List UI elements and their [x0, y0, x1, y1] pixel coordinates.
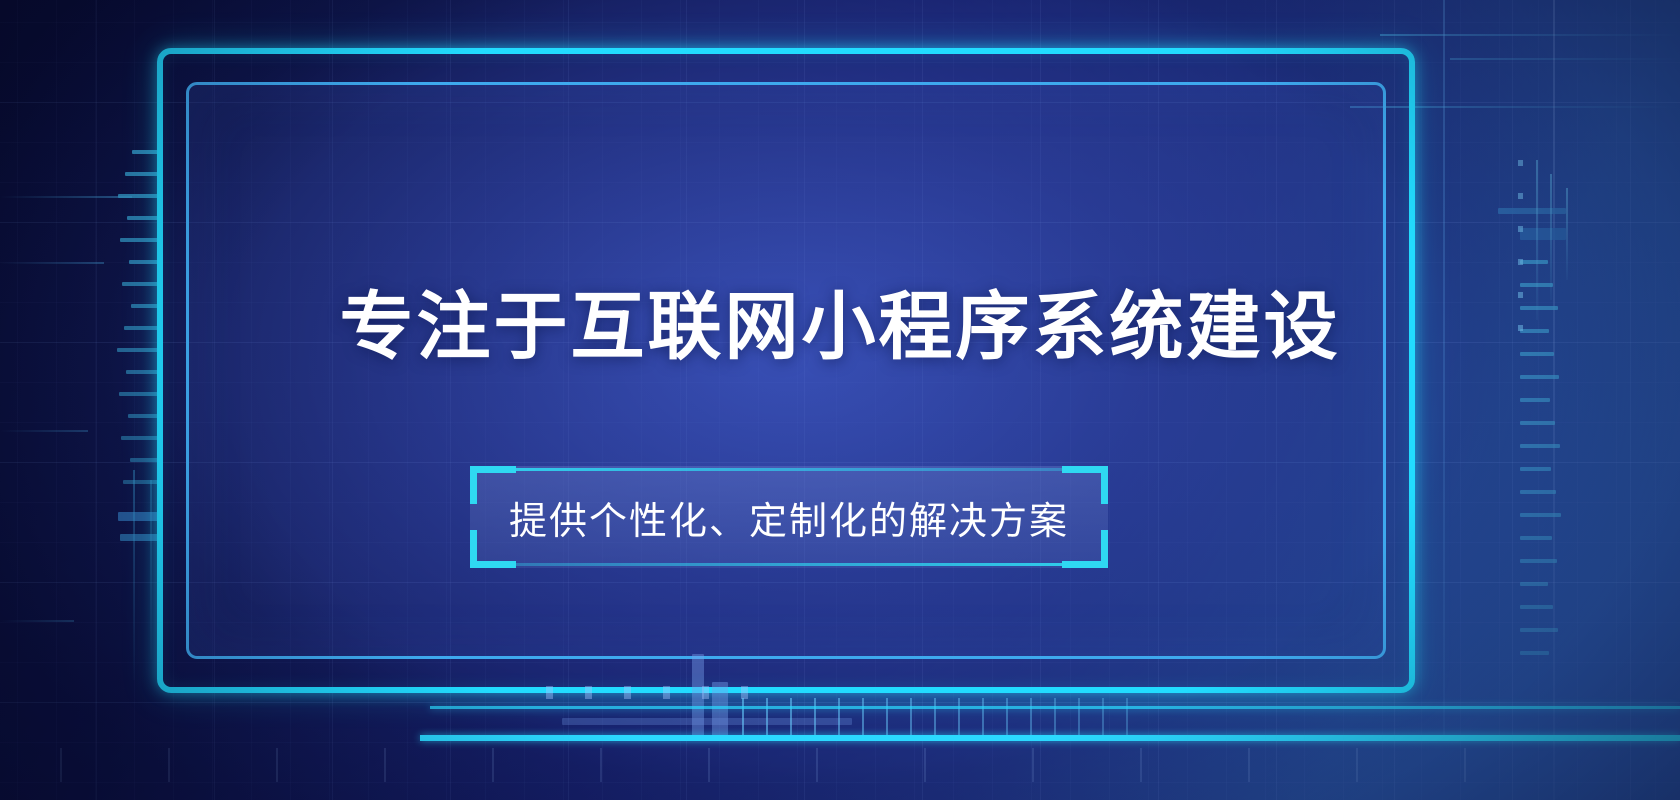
tick-mark: [1520, 605, 1553, 609]
decor-vline-right-1: [1443, 0, 1445, 740]
decor-vline-right-2: [1553, 0, 1555, 800]
tick-slab: [1520, 228, 1566, 240]
hud-mini-tick: [838, 698, 840, 736]
hud-lower-tick: [1248, 748, 1250, 782]
decor-streak-left-2: [0, 262, 104, 264]
hud-lower-tick: [600, 748, 602, 782]
hud-mini-tick: [958, 698, 960, 736]
tick-mark: [128, 414, 158, 418]
hud-lower-tick: [384, 748, 386, 782]
tick-mark: [1520, 559, 1557, 563]
inner-frame: [186, 82, 1386, 659]
tick-mark: [125, 172, 158, 176]
decor-vline-left-2: [150, 480, 152, 660]
tick-mark: [126, 370, 158, 374]
hud-mini-tick: [1126, 698, 1128, 736]
hud-mini-tick: [766, 698, 768, 736]
hud-mini-tick: [982, 698, 984, 736]
hud-mini-tick: [1030, 698, 1032, 736]
tick-mark: [119, 392, 158, 396]
tick-mark: [1520, 467, 1551, 471]
tick-mark: [1520, 490, 1556, 494]
tick-slab: [118, 512, 158, 521]
tick-mark: [1520, 260, 1548, 264]
hatch-line: [1550, 174, 1552, 300]
hud-lower-tick: [1032, 748, 1034, 782]
hud-mini-tick: [1078, 698, 1080, 736]
banner-canvas: 专注于互联网小程序系统建设 提供个性化、定制化的解决方案: [0, 0, 1680, 800]
tick-slab: [120, 534, 158, 541]
tick-mark: [120, 238, 158, 242]
hud-mini-tick: [910, 698, 912, 736]
hud-lower-tick: [168, 748, 170, 782]
tick-mark: [1520, 513, 1561, 517]
hud-mini-tick: [1054, 698, 1056, 736]
tick-mark: [1520, 628, 1558, 632]
hud-lower-tick: [816, 748, 818, 782]
tick-mark: [1520, 375, 1559, 379]
tick-mark: [1520, 651, 1549, 655]
hud-lower-tick: [708, 748, 710, 782]
dot-mark: [1518, 160, 1523, 166]
dot-mark: [1518, 226, 1523, 232]
hud-mini-tick: [742, 698, 744, 736]
hud-lower-tick: [1140, 748, 1142, 782]
hud-lower-tick: [60, 748, 62, 782]
decor-streak-left-4: [0, 620, 74, 622]
dot-mark: [1518, 193, 1523, 199]
hud-lower-tick: [1356, 748, 1358, 782]
decor-streak-right-2: [1450, 58, 1680, 60]
tick-mark: [1520, 444, 1560, 448]
tick-mark: [123, 480, 158, 484]
tick-mark: [118, 194, 158, 198]
hud-lower-tick: [276, 748, 278, 782]
subtitle-panel: 提供个性化、定制化的解决方案: [470, 466, 1108, 568]
decor-vline-left-1: [133, 470, 135, 680]
tick-mark: [1520, 536, 1552, 540]
tick-mark: [129, 260, 158, 264]
bottom-neon-line-2: [420, 735, 1680, 741]
hud-mini-tick: [790, 698, 792, 736]
hud-lower-tick: [492, 748, 494, 782]
subtitle-text: 提供个性化、定制化的解决方案: [470, 466, 1108, 568]
hud-mini-tick: [886, 698, 888, 736]
tick-mark: [1520, 421, 1555, 425]
tick-mark: [132, 150, 158, 154]
decor-streak-left-1: [0, 196, 132, 198]
decor-streak-left-3: [0, 430, 88, 432]
tick-mark: [127, 216, 158, 220]
hud-bar-wide: [562, 718, 852, 725]
tick-mark: [121, 436, 158, 440]
decor-streak-right-1: [1380, 34, 1680, 36]
hatch-line: [1566, 188, 1568, 280]
hud-mini-tick: [1102, 698, 1104, 736]
tick-mark: [130, 458, 158, 462]
dot-mark: [1518, 259, 1523, 265]
hud-lower-tick: [1464, 748, 1466, 782]
hud-mini-tick: [862, 698, 864, 736]
hud-mini-tick: [814, 698, 816, 736]
tick-slab: [1498, 208, 1566, 214]
hud-mini-tick: [1006, 698, 1008, 736]
hud-mini-tick: [934, 698, 936, 736]
bottom-neon-line-1: [430, 706, 1680, 709]
page-title: 专注于互联网小程序系统建设: [0, 286, 1680, 367]
tick-mark: [1520, 582, 1548, 586]
tick-mark: [1520, 398, 1550, 402]
hud-lower-tick: [924, 748, 926, 782]
